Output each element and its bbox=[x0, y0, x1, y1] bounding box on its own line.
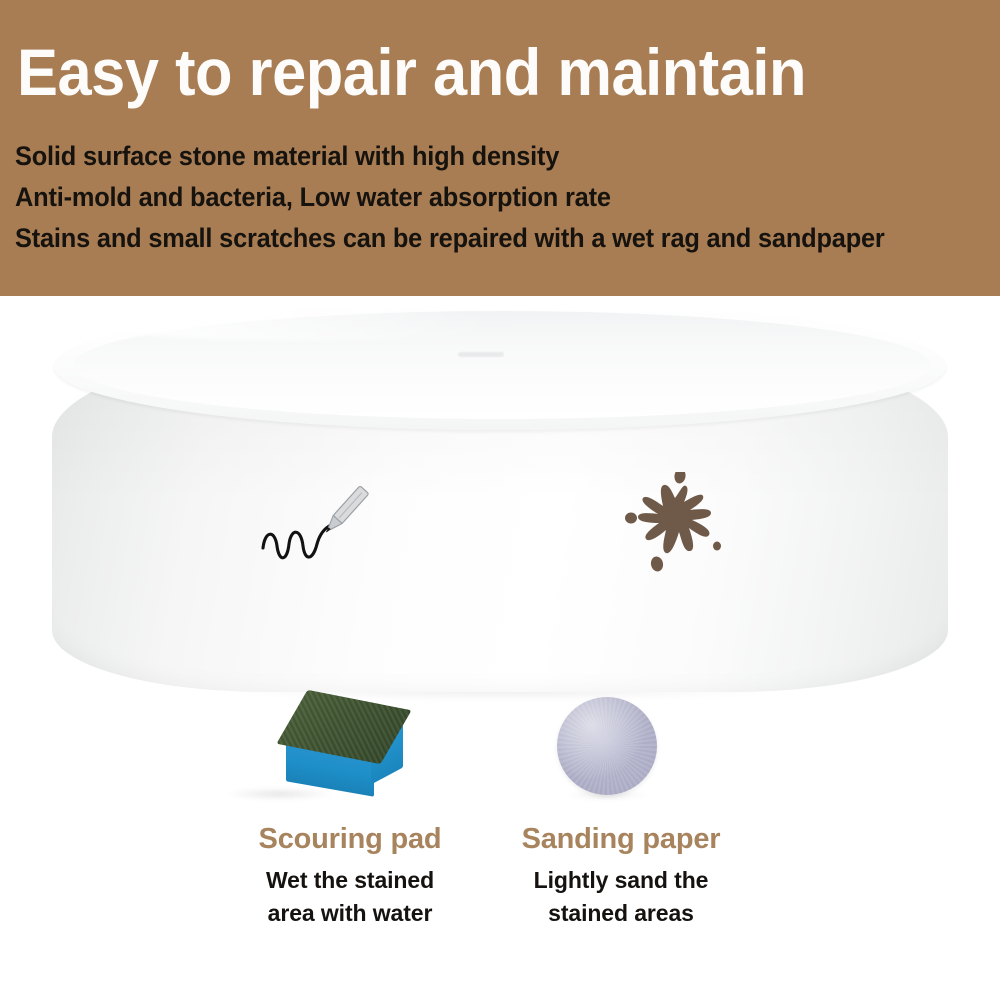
overflow-slot-icon bbox=[458, 352, 504, 357]
tool-description-line-1: Lightly sand the bbox=[486, 864, 756, 897]
sanding-paper-art bbox=[486, 692, 756, 810]
feature-line-2: Anti-mold and bacteria, Low water absorp… bbox=[15, 181, 611, 213]
tool-description-line-1: Wet the stained bbox=[215, 864, 485, 897]
tool-description-scouring-pad: Wet the stained area with water bbox=[215, 864, 485, 930]
page-title: Easy to repair and maintain bbox=[17, 36, 806, 108]
scouring-pad-icon bbox=[283, 694, 418, 804]
pen-scribble-icon bbox=[257, 484, 377, 572]
scouring-pad-art bbox=[215, 692, 485, 810]
tool-card-scouring-pad: Scouring pad Wet the stained area with w… bbox=[215, 692, 485, 930]
tool-description-sanding-paper: Lightly sand the stained areas bbox=[486, 864, 756, 930]
sanding-paper-icon bbox=[557, 697, 657, 795]
product-stage: Scouring pad Wet the stained area with w… bbox=[0, 296, 1000, 1000]
tool-title-scouring-pad: Scouring pad bbox=[215, 822, 485, 856]
feature-line-1: Solid surface stone material with high d… bbox=[15, 140, 559, 172]
bathtub-image bbox=[52, 302, 948, 692]
tool-description-line-2: area with water bbox=[215, 897, 485, 930]
stain-splash-icon bbox=[617, 472, 733, 578]
bathtub-rim-outer bbox=[54, 302, 946, 430]
tool-card-sanding-paper: Sanding paper Lightly sand the stained a… bbox=[486, 692, 756, 930]
tool-title-sanding-paper: Sanding paper bbox=[486, 822, 756, 856]
tool-description-line-2: stained areas bbox=[486, 897, 756, 930]
bathtub-rim-highlight bbox=[94, 307, 514, 341]
tools-row: Scouring pad Wet the stained area with w… bbox=[0, 692, 1000, 1000]
header-banner: Easy to repair and maintain Solid surfac… bbox=[0, 0, 1000, 296]
feature-line-3: Stains and small scratches can be repair… bbox=[15, 222, 885, 254]
